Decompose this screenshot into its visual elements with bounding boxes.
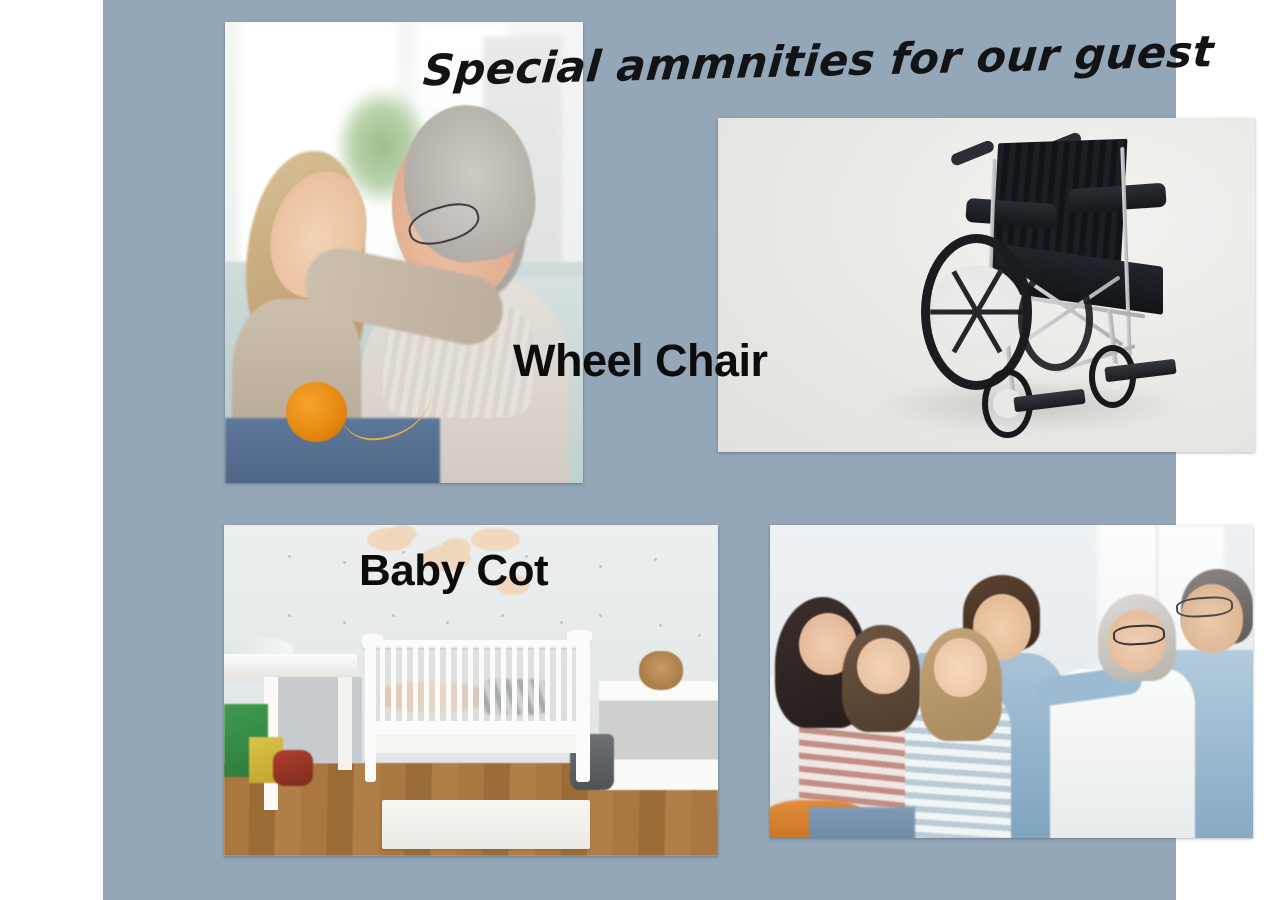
floor-rug — [382, 800, 589, 850]
crib-bars — [369, 646, 583, 723]
adult-bed — [599, 681, 718, 790]
baby-cot-label: Baby Cot — [359, 546, 548, 596]
wall-dot — [654, 558, 657, 561]
grandfather-face — [1181, 584, 1244, 653]
wheel-spoke — [951, 270, 1002, 353]
poster-canvas: Baby Cot — [0, 0, 1280, 900]
table-leg — [338, 677, 353, 770]
rear-wheel-left — [921, 234, 1032, 390]
wall-dot — [343, 621, 346, 624]
crib-base — [367, 735, 585, 753]
collage-panel: Baby Cot — [103, 0, 1176, 900]
crib-post-right — [576, 634, 590, 781]
wheel-chair-label: Wheel Chair — [513, 335, 768, 387]
baby-crib — [362, 634, 589, 783]
rear-wheel-right — [1018, 267, 1093, 371]
older-girl-face — [857, 638, 910, 694]
cloud-decal — [387, 525, 417, 542]
wall-dot — [560, 621, 563, 624]
photo-wheelchair — [718, 118, 1255, 452]
photo-family — [770, 525, 1253, 838]
crib-post-left — [365, 639, 376, 782]
teddy-bear — [639, 651, 683, 691]
jeans — [809, 807, 915, 838]
yarn-ball — [286, 382, 347, 442]
toy-red — [273, 750, 313, 786]
younger-girl-face — [934, 638, 987, 697]
photo-baby-cot-nursery: Baby Cot — [224, 525, 718, 856]
wheelchair-illustration — [911, 135, 1233, 436]
